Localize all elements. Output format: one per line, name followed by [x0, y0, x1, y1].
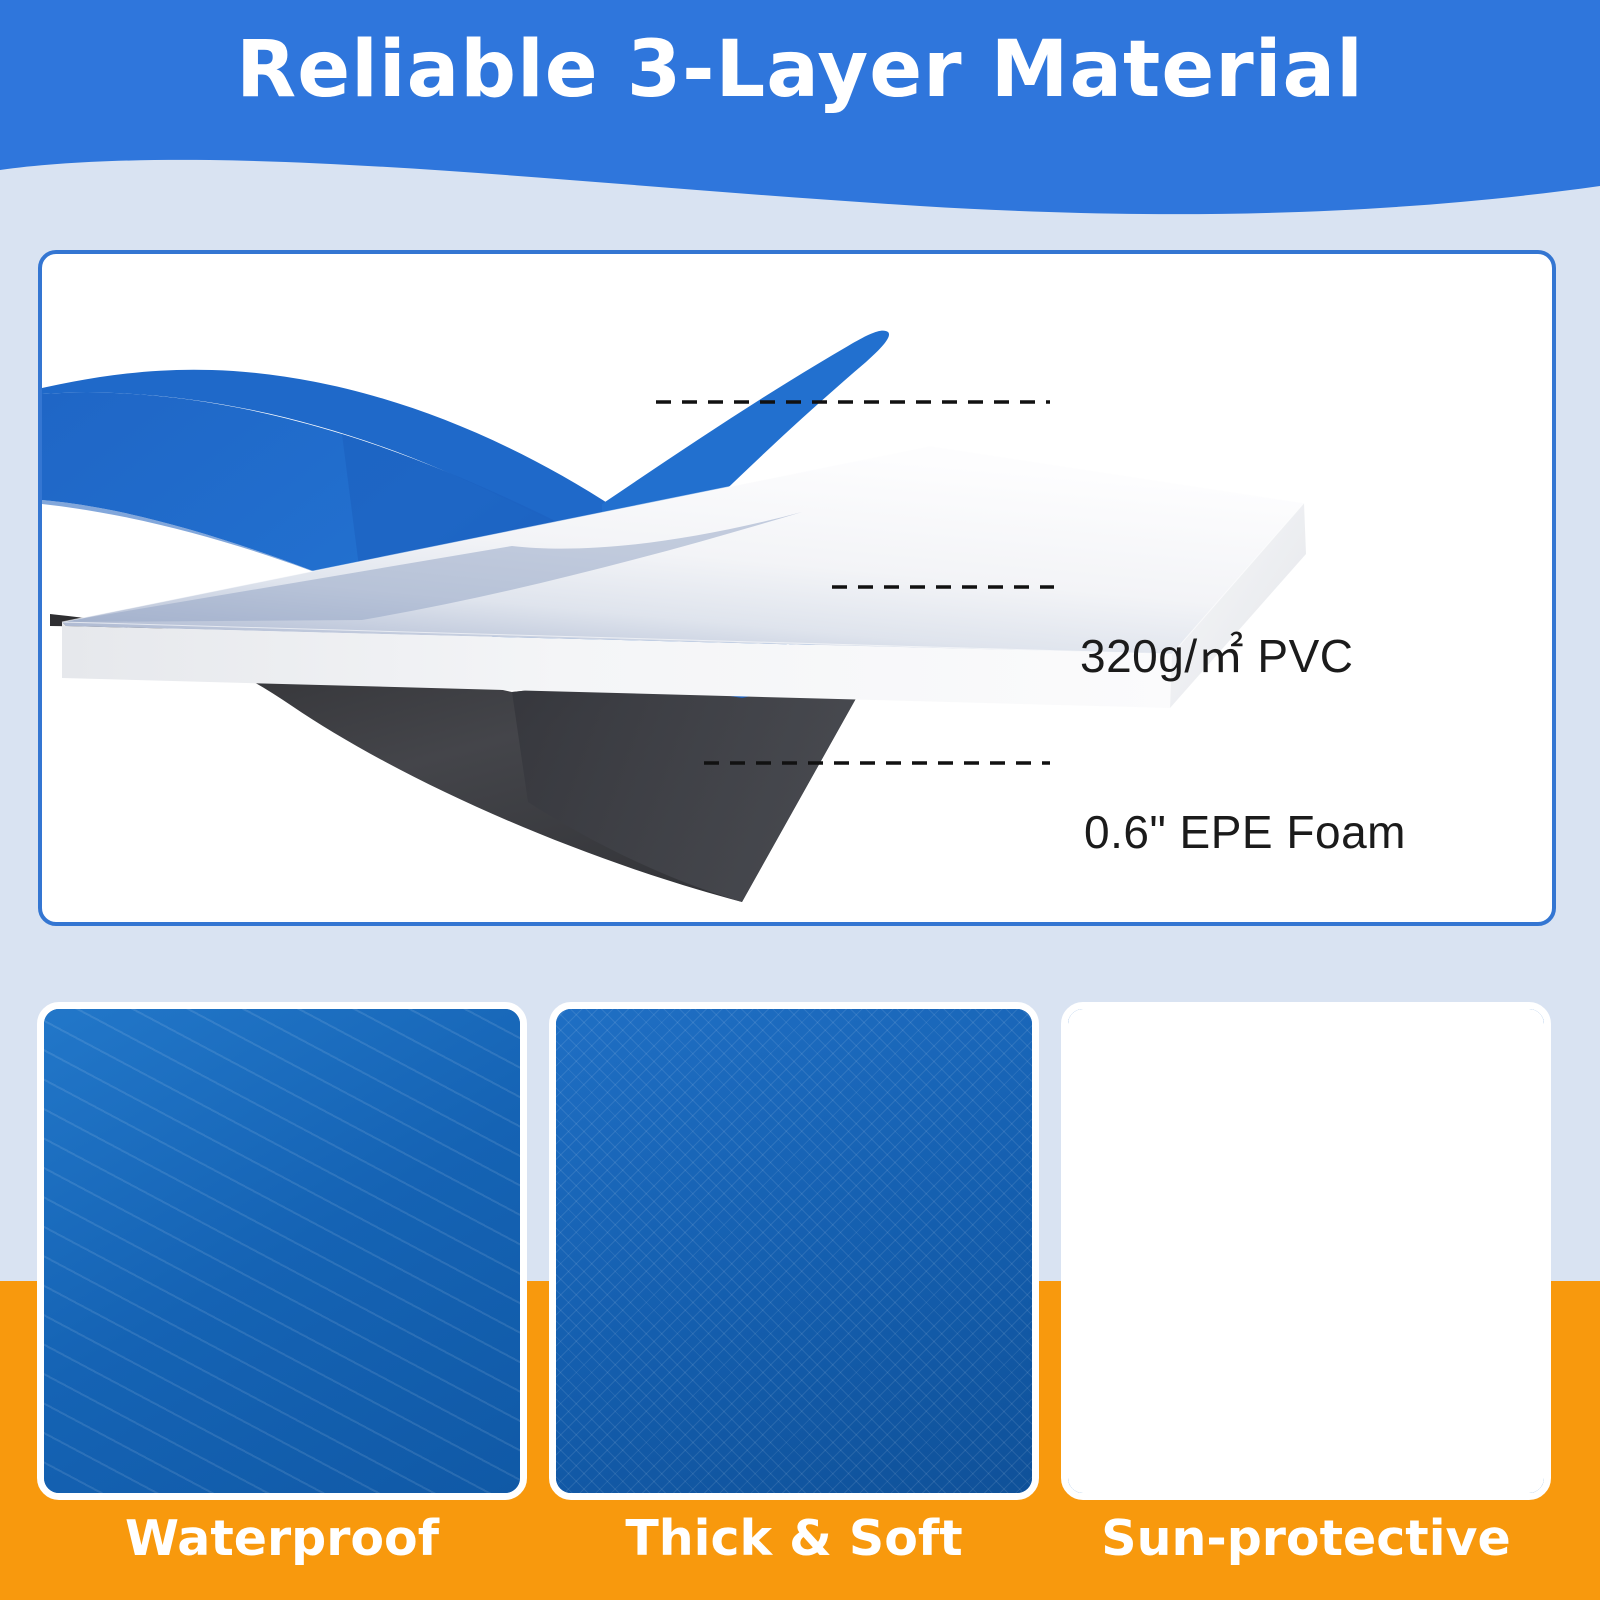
layer-label-pvc: 320g/㎡ PVC	[1080, 620, 1353, 686]
hand-on-mat-photo	[556, 1009, 1032, 1493]
feature-caption-sun-protective: Sun-protective	[1061, 1510, 1551, 1567]
feature-caption-waterproof: Waterproof	[37, 1510, 527, 1567]
feature-card-waterproof[interactable]	[37, 1002, 527, 1500]
feature-caption-thick-soft: Thick & Soft	[549, 1510, 1039, 1567]
feature-card-sun-protective[interactable]	[1061, 1002, 1551, 1500]
waterproof-photo	[44, 1009, 520, 1493]
feature-card-thick-soft[interactable]	[549, 1002, 1039, 1500]
feature-cards	[0, 1002, 1600, 1502]
page-title: Reliable 3-Layer Material	[0, 22, 1600, 118]
trampoline-sun-photo	[1068, 1009, 1544, 1493]
infographic-page: Reliable 3-Layer Material	[0, 0, 1600, 1600]
layer-label-epe: 0.6" EPE Foam	[1084, 805, 1406, 859]
layer-diagram-panel: 320g/㎡ PVC 0.6" EPE Foam 120g/㎡ PE	[38, 250, 1556, 926]
